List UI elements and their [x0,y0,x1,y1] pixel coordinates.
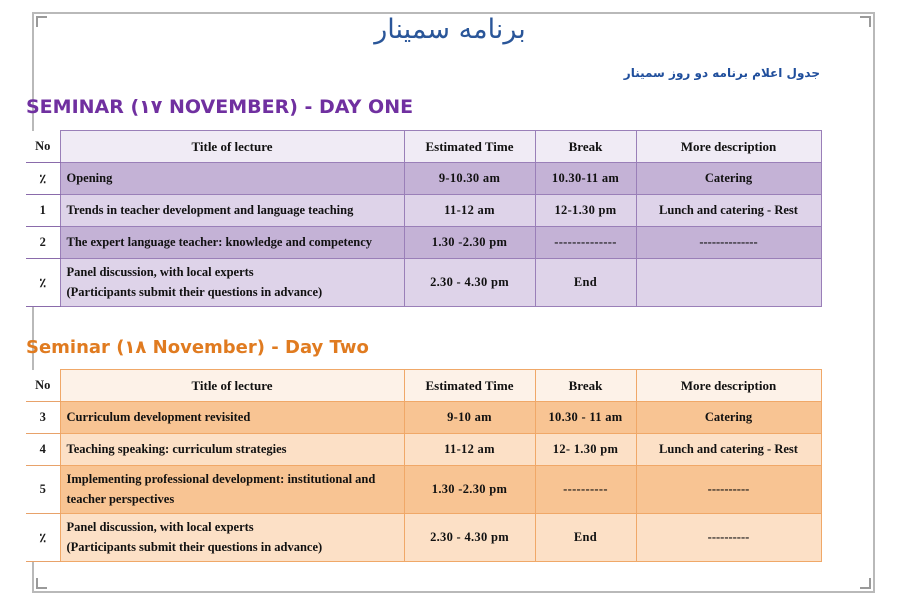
row-number: 5 [26,466,60,514]
crop-mark-bottom-left [36,578,47,589]
row-title: Implementing professional development: i… [60,466,404,514]
row-break: 10.30 - 11 am [535,402,636,434]
row-estimated-time: 1.30 -2.30 pm [404,227,535,259]
row-estimated-time: 1.30 -2.30 pm [404,466,535,514]
row-more-description: Catering [636,163,821,195]
row-title: Opening [60,163,404,195]
row-number: 3 [26,402,60,434]
crop-mark-bottom-right [860,578,871,589]
table-row: 4 Teaching speaking: curriculum strategi… [26,434,821,466]
table-row: ٪ Opening 9-10.30 am 10.30-11 am Caterin… [26,163,821,195]
row-number: ٪ [26,259,60,307]
row-number: ٪ [26,163,60,195]
row-title-line1: Teaching speaking: curriculum strategies [67,442,287,456]
row-title-line1: Curriculum development revisited [67,410,251,424]
row-more-description: -------------- [636,227,821,259]
row-estimated-time: 2.30 - 4.30 pm [404,514,535,562]
row-estimated-time: 2.30 - 4.30 pm [404,259,535,307]
row-title-line1: Trends in teacher development and langua… [67,203,354,217]
row-title: Teaching speaking: curriculum strategies [60,434,404,466]
row-break: 12-1.30 pm [535,195,636,227]
row-number: ٪ [26,514,60,562]
row-title-line1: Implementing professional development: i… [67,472,376,486]
day-one-heading: SEMINAR (۱۷ NOVEMBER) - DAY ONE [26,96,413,118]
header-more-description: More description [636,370,821,402]
row-more-description: ---------- [636,514,821,562]
day-one-schedule-table: No Title of lecture Estimated Time Break… [26,130,822,307]
table-row: 3 Curriculum development revisited 9-10 … [26,402,821,434]
row-number: 4 [26,434,60,466]
header-no: No [26,370,60,402]
header-estimated-time: Estimated Time [404,131,535,163]
day-two-heading: Seminar (۱۸ November) - Day Two [26,337,369,358]
row-estimated-time: 9-10 am [404,402,535,434]
row-title-line1: Panel discussion, with local experts [67,520,254,534]
row-title-line1: Opening [67,171,113,185]
row-break: 10.30-11 am [535,163,636,195]
row-title-line2: teacher perspectives [67,490,398,509]
header-estimated-time: Estimated Time [404,370,535,402]
row-more-description: Lunch and catering - Rest [636,195,821,227]
row-title: Panel discussion, with local experts (Pa… [60,259,404,307]
header-title: Title of lecture [60,370,404,402]
row-estimated-time: 11-12 am [404,434,535,466]
row-title: Curriculum development revisited [60,402,404,434]
document-title: برنامه سمینار [0,14,900,45]
table-row: ٪ Panel discussion, with local experts (… [26,514,821,562]
row-estimated-time: 11-12 am [404,195,535,227]
table-header-row: No Title of lecture Estimated Time Break… [26,370,821,402]
row-number: 2 [26,227,60,259]
table-row: ٪ Panel discussion, with local experts (… [26,259,821,307]
table-header-row: No Title of lecture Estimated Time Break… [26,131,821,163]
row-title: Trends in teacher development and langua… [60,195,404,227]
row-title-line1: The expert language teacher: knowledge a… [67,235,373,249]
row-title-line2: (Participants submit their questions in … [67,283,398,302]
table-row: 2 The expert language teacher: knowledge… [26,227,821,259]
header-break: Break [535,131,636,163]
row-title-line1: Panel discussion, with local experts [67,265,254,279]
row-title: Panel discussion, with local experts (Pa… [60,514,404,562]
row-title-line2: (Participants submit their questions in … [67,538,398,557]
row-more-description: ---------- [636,466,821,514]
row-break: 12- 1.30 pm [535,434,636,466]
header-break: Break [535,370,636,402]
row-more-description [636,259,821,307]
day-two-schedule-table: No Title of lecture Estimated Time Break… [26,369,822,562]
row-number: 1 [26,195,60,227]
row-break: ---------- [535,466,636,514]
row-estimated-time: 9-10.30 am [404,163,535,195]
document-canvas: برنامه سمینار جدول اعلام برنامه دو روز س… [0,0,900,605]
row-more-description: Catering [636,402,821,434]
table-row: 5 Implementing professional development:… [26,466,821,514]
table-row: 1 Trends in teacher development and lang… [26,195,821,227]
row-break: End [535,259,636,307]
header-no: No [26,131,60,163]
row-break: -------------- [535,227,636,259]
row-title: The expert language teacher: knowledge a… [60,227,404,259]
row-more-description: Lunch and catering - Rest [636,434,821,466]
document-subtitle: جدول اعلام برنامه دو روز سمینار [624,66,820,80]
header-more-description: More description [636,131,821,163]
row-break: End [535,514,636,562]
header-title: Title of lecture [60,131,404,163]
